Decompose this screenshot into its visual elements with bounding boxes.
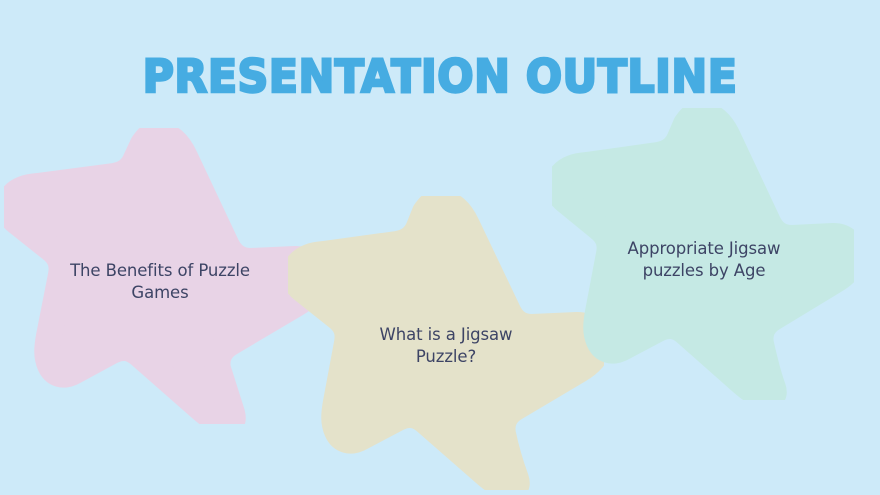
- outline-item-2-label: What is a Jigsaw Puzzle?: [320, 324, 572, 368]
- outline-item-1[interactable]: The Benefits of Puzzle Games: [4, 128, 316, 424]
- presentation-slide: PRESENTATION OUTLINE The Benefits of Puz…: [0, 0, 880, 495]
- outline-item-3[interactable]: Appropriate Jigsaw puzzles by Age: [552, 108, 854, 400]
- outline-item-1-label: The Benefits of Puzzle Games: [34, 260, 286, 304]
- page-title: PRESENTATION OUTLINE: [22, 54, 858, 99]
- outline-item-3-label: Appropriate Jigsaw puzzles by Age: [578, 238, 830, 282]
